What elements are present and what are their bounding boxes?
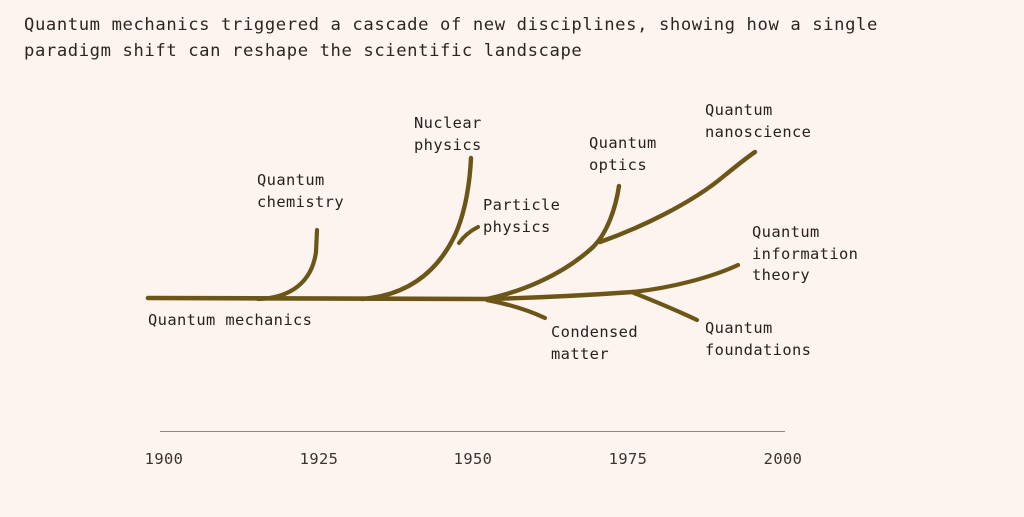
node-label-particle-physics: Particle physics xyxy=(483,195,560,238)
node-label-quantum-chemistry: Quantum chemistry xyxy=(257,170,344,213)
branch-path-quantum-foundations xyxy=(634,293,697,320)
timeline-tick-1900: 1900 xyxy=(145,449,184,469)
timeline-axis xyxy=(160,431,785,432)
node-label-condensed-matter: Condensed matter xyxy=(551,322,638,365)
branch-tree-graphic xyxy=(0,0,1024,517)
timeline-tick-1950: 1950 xyxy=(454,449,493,469)
branch-path-quantum-mechanics xyxy=(148,298,486,299)
branch-path-quantum-information xyxy=(633,265,738,292)
branch-path-condensed-matter xyxy=(487,300,545,318)
branch-path-particle-physics xyxy=(459,227,478,243)
node-label-quantum-foundations: Quantum foundations xyxy=(705,318,811,361)
timeline-tick-1925: 1925 xyxy=(300,449,339,469)
node-label-quantum-optics: Quantum optics xyxy=(589,133,657,176)
branch-path-quantum-chemistry xyxy=(258,230,317,299)
diagram-canvas: Quantum mechanics triggered a cascade of… xyxy=(0,0,1024,517)
node-label-nuclear-physics: Nuclear physics xyxy=(414,113,482,156)
node-label-quantum-nanoscience: Quantum nanoscience xyxy=(705,100,811,143)
branch-path-nuclear-physics xyxy=(362,158,471,299)
timeline-tick-2000: 2000 xyxy=(764,449,803,469)
timeline-tick-1975: 1975 xyxy=(609,449,648,469)
node-label-quantum-information-theory: Quantum information theory xyxy=(752,222,858,287)
node-label-quantum-mechanics: Quantum mechanics xyxy=(148,310,312,332)
